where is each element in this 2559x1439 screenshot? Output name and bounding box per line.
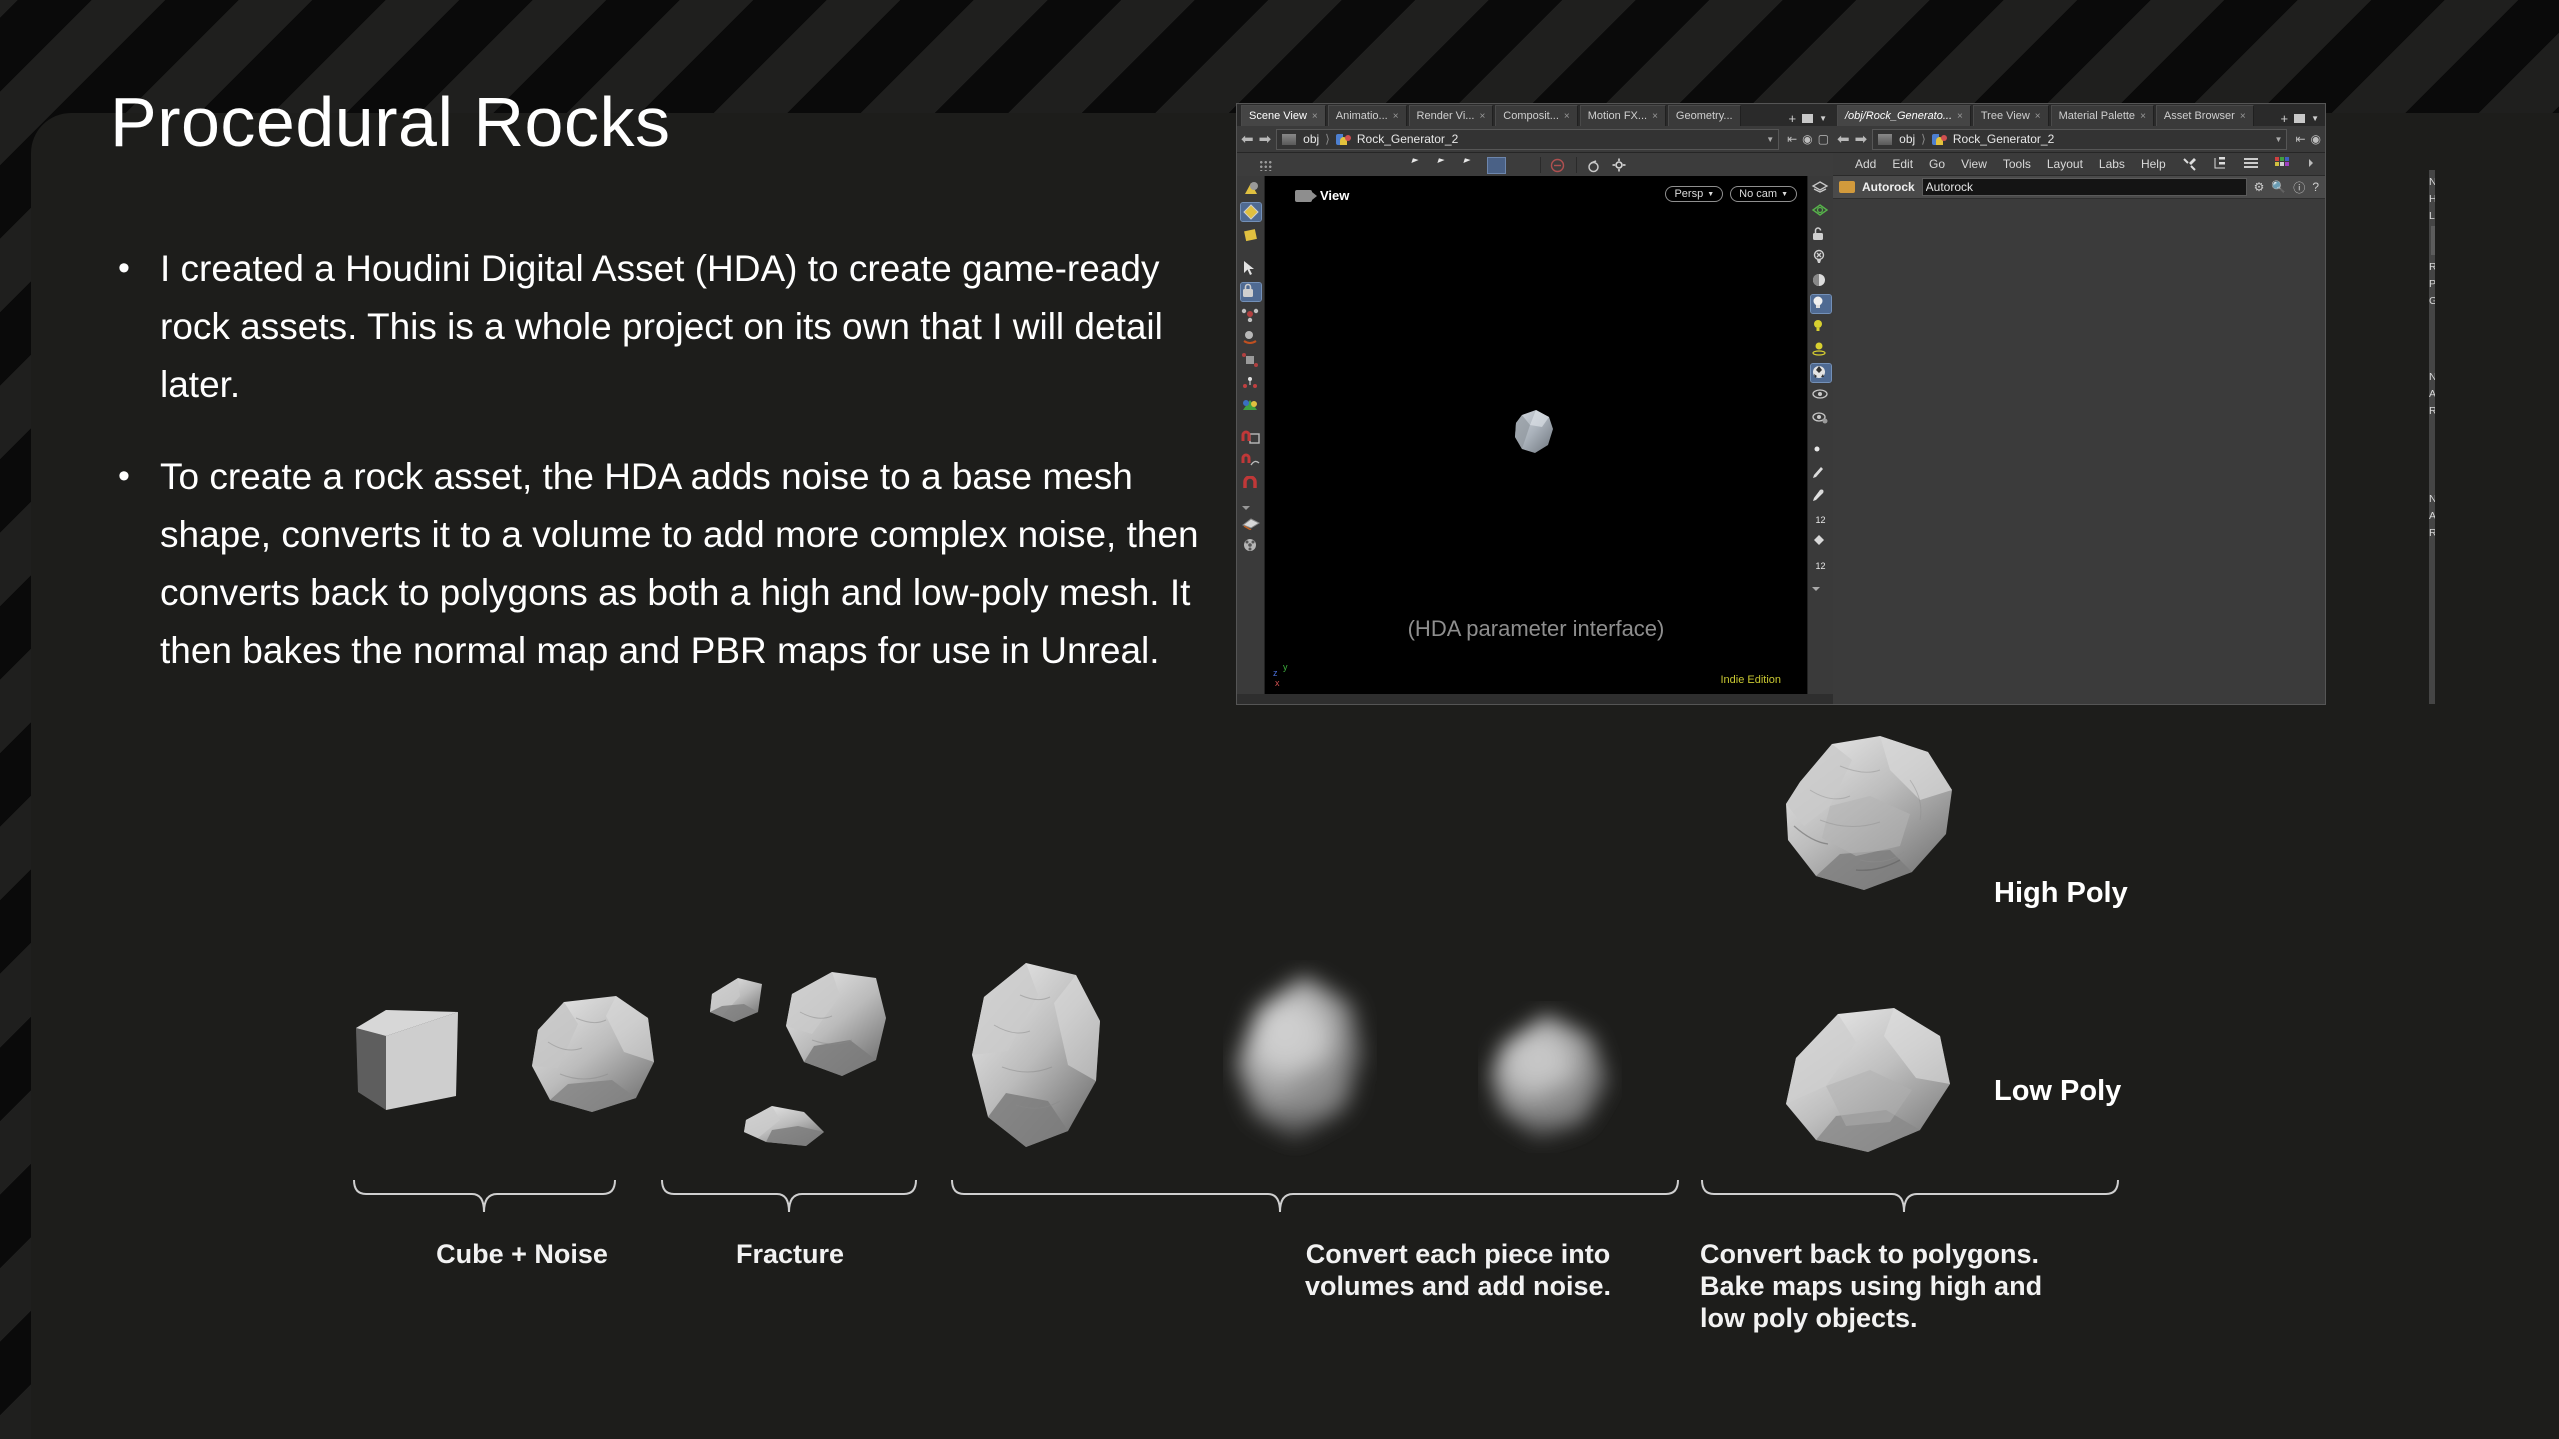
menu-labs[interactable]: Labs: [2099, 157, 2125, 171]
node-header-controls: ⚙ 🔍 ⓘ ?: [2254, 179, 2319, 196]
material-mode-icon[interactable]: [1241, 226, 1261, 244]
tree-list-icon[interactable]: [2213, 157, 2228, 171]
film-reel-icon[interactable]: [1241, 537, 1261, 555]
forward-arrow-icon[interactable]: ➡: [1855, 132, 1868, 147]
bullet-text: To create a rock asset, the HDA adds noi…: [160, 448, 1223, 680]
page-title: Procedural Rocks: [110, 82, 670, 162]
indie-edition-watermark: Indie Edition: [1720, 674, 1781, 686]
brush-icon[interactable]: [1811, 465, 1831, 483]
pathbar-controls: ⇤ ◉: [2292, 132, 2321, 146]
menu-layout[interactable]: Layout: [2047, 157, 2083, 171]
pathbar-controls: ⇤ ◉ ▢: [1784, 132, 1829, 146]
viewport-name: View: [1295, 188, 1349, 203]
close-icon[interactable]: ×: [1312, 111, 1318, 122]
high-poly-rock-mesh: [1760, 730, 1990, 910]
info-icon[interactable]: ⓘ: [2293, 179, 2305, 196]
stage-cube-mesh: [352, 1000, 462, 1120]
close-icon[interactable]: ×: [1957, 111, 1963, 122]
close-icon[interactable]: ×: [1564, 111, 1570, 122]
target-icon[interactable]: ◉: [1802, 132, 1812, 146]
tab-animation[interactable]: Animatio...×: [1328, 105, 1407, 126]
menu-view[interactable]: View: [1961, 157, 1987, 171]
path-node-label: Rock_Generator_2: [1953, 132, 2054, 146]
forward-arrow-icon[interactable]: ➡: [1259, 132, 1272, 147]
rotate-tool-icon[interactable]: [1241, 352, 1261, 370]
pin-icon[interactable]: ⇤: [2295, 132, 2305, 146]
parameters-tabstrip: /obj/Rock_Generato...× Tree View× Materi…: [1833, 104, 2325, 126]
viewport-left-toolbar: [1237, 176, 1265, 694]
tabstrip-controls: + ▼: [1782, 111, 1833, 126]
chevron-down-icon[interactable]: ▼: [1819, 114, 1827, 123]
frame-count-icon[interactable]: 12: [1811, 557, 1831, 575]
autorock-node-icon: [1839, 181, 1855, 193]
bullet-dot: •: [118, 448, 160, 680]
menu-edit[interactable]: Edit: [1892, 157, 1913, 171]
axis-tool-icon[interactable]: [1241, 398, 1261, 416]
menu-help[interactable]: Help: [2141, 157, 2166, 171]
chevron-down-icon[interactable]: [1811, 580, 1831, 590]
camera-dropdown[interactable]: No cam▼: [1730, 186, 1797, 202]
close-icon[interactable]: ×: [1652, 111, 1658, 122]
brace-fracture: [660, 1178, 918, 1218]
chevron-down-icon: ▼: [1781, 191, 1788, 198]
scene-viewport[interactable]: View Persp▼ No cam▼: [1265, 176, 1807, 694]
point-count-icon[interactable]: 12: [1811, 511, 1831, 529]
snap-to-grid-icon[interactable]: [1241, 430, 1261, 448]
snap-to-curve-icon[interactable]: [1241, 453, 1261, 471]
stage-piece-mesh: [950, 955, 1125, 1160]
chevron-down-icon[interactable]: ▼: [2275, 135, 2283, 144]
viewer-toolbar: [1237, 153, 1833, 178]
caption-convert-back: Convert back to polygons. Bake maps usin…: [1700, 1238, 2130, 1334]
stage-fracture-pieces: [700, 960, 930, 1170]
environment-ball-icon[interactable]: [1811, 364, 1831, 382]
geometry-node-icon: [1336, 133, 1351, 146]
parameters-menubar: Add Edit Go View Tools Layout Labs Help: [1833, 153, 2325, 176]
node-path-field[interactable]: obj ⟩ Rock_Generator_2 ▼: [1872, 129, 2287, 150]
houdini-screenshot: Scene View× Animatio...× Render Vi...× C…: [1236, 103, 2326, 705]
caption-fracture: Fracture: [665, 1238, 915, 1270]
parameter-list: Number of Rocks 1 High Poly Voxel Size 0…: [2429, 170, 2435, 704]
square-icon[interactable]: [1802, 114, 1813, 123]
light-yellow-icon[interactable]: [1811, 318, 1831, 336]
wrench-icon[interactable]: [2182, 157, 2197, 171]
square-icon[interactable]: [2294, 114, 2305, 123]
breadcrumb-separator: ⟩: [1921, 132, 1926, 146]
close-icon[interactable]: ×: [1393, 111, 1399, 122]
scale-tool-icon[interactable]: [1241, 375, 1261, 393]
parameters-pane: /obj/Rock_Generato...× Tree View× Materi…: [1833, 104, 2325, 704]
extra-icon[interactable]: ▢: [1818, 132, 1829, 146]
tab-motion-fx[interactable]: Motion FX...×: [1580, 105, 1666, 126]
display-layers-icon[interactable]: [1811, 180, 1831, 198]
chevron-right-icon[interactable]: [2306, 157, 2321, 171]
select-rotate-icon[interactable]: [1410, 158, 1427, 173]
obj-context-icon: [1281, 133, 1297, 146]
tab-compositor[interactable]: Composit...×: [1495, 105, 1577, 126]
chevron-down-icon[interactable]: ▼: [2311, 114, 2319, 123]
viewport-rock-mesh: [1500, 405, 1572, 465]
brace-convert-back: [1700, 1178, 2120, 1218]
low-poly-label: Low Poly: [1994, 1075, 2121, 1108]
close-icon[interactable]: ×: [2140, 111, 2146, 122]
viewport-area: View Persp▼ No cam▼: [1237, 176, 1833, 694]
object-mode-icon[interactable]: [1241, 180, 1261, 198]
select-plane-icon[interactable]: [1462, 158, 1479, 173]
tabstrip-controls: + ▼: [2274, 111, 2325, 126]
visibility-eye-icon[interactable]: [1811, 387, 1831, 405]
parameters-path-bar: ⬅ ➡ obj ⟩ Rock_Generator_2 ▼ ⇤ ◉: [1833, 126, 2325, 153]
menu-add[interactable]: Add: [1855, 157, 1876, 171]
scene-view-pane: Scene View× Animatio...× Render Vi...× C…: [1237, 104, 1834, 704]
ghost-display-icon[interactable]: [1811, 203, 1831, 221]
light-place-icon[interactable]: [1811, 341, 1831, 359]
handle-tool-icon[interactable]: [1241, 306, 1261, 324]
bullet-list: • I created a Houdini Digital Asset (HDA…: [118, 240, 1223, 714]
tab-asset-browser[interactable]: Asset Browser×: [2156, 105, 2254, 126]
geometry-mode-icon[interactable]: [1241, 203, 1261, 221]
snap-magnet-icon[interactable]: [1241, 476, 1261, 494]
group-select-icon[interactable]: [1488, 158, 1505, 173]
high-poly-label: High Poly: [1994, 877, 2128, 910]
back-arrow-icon[interactable]: ⬅: [1837, 132, 1850, 147]
scene-view-tabstrip: Scene View× Animatio...× Render Vi...× C…: [1237, 104, 1833, 126]
no-display-icon[interactable]: [1811, 249, 1831, 267]
snapping-icon[interactable]: [1586, 158, 1603, 173]
list-item: • I created a Houdini Digital Asset (HDA…: [118, 240, 1223, 414]
node-type-label: Autorock: [1862, 180, 1915, 194]
settings-gear-icon[interactable]: [1612, 158, 1629, 173]
list-item: • To create a rock asset, the HDA adds n…: [118, 448, 1223, 680]
slide-root: Procedural Rocks • I created a Houdini D…: [0, 0, 2559, 1439]
plus-icon[interactable]: +: [1788, 111, 1796, 126]
color-grid-icon[interactable]: [2275, 157, 2290, 171]
camera-icon: [1295, 190, 1312, 202]
select-arrow-icon[interactable]: [1436, 158, 1453, 173]
obj-context-icon: [1877, 133, 1893, 146]
pointer-tool-icon[interactable]: [1241, 260, 1261, 278]
chevron-down-icon: ▼: [1707, 191, 1714, 198]
menu-tools[interactable]: Tools: [2003, 157, 2031, 171]
path-root-label: obj: [1899, 132, 1915, 146]
menu-go[interactable]: Go: [1929, 157, 1945, 171]
eyedropper-icon[interactable]: [1811, 488, 1831, 506]
node-name-field[interactable]: [1922, 178, 2247, 196]
point-display-icon[interactable]: [1811, 442, 1831, 460]
node-header: Autorock ⚙ 🔍 ⓘ ?: [1833, 176, 2325, 199]
drag-handle-icon[interactable]: [1259, 160, 1272, 171]
tab-noise-options[interactable]: Noise Options: [2431, 226, 2435, 255]
close-icon[interactable]: ×: [2035, 111, 2041, 122]
stage-volume-blob-2: [1460, 990, 1650, 1170]
move-tool-icon[interactable]: [1241, 329, 1261, 347]
viewport-view-controls: Persp▼ No cam▼: [1665, 186, 1797, 202]
bullet-dot: •: [118, 240, 160, 414]
brace-cube-noise: [352, 1178, 617, 1218]
search-icon[interactable]: 🔍: [2271, 180, 2286, 194]
stage-noisy-cube-mesh: [520, 990, 670, 1120]
eye-settings-icon[interactable]: [1811, 410, 1831, 428]
path-node-label: Rock_Generator_2: [1357, 132, 1458, 146]
close-icon[interactable]: ×: [2240, 111, 2246, 122]
box-select-icon[interactable]: [1514, 158, 1531, 173]
geometry-node-icon: [1932, 133, 1947, 146]
chevron-down-icon[interactable]: [1241, 499, 1261, 509]
light-on-icon[interactable]: [1811, 295, 1831, 313]
bullet-text: I created a Houdini Digital Asset (HDA) …: [160, 240, 1223, 414]
caption-cube-noise: Cube + Noise: [402, 1238, 642, 1270]
help-icon[interactable]: ?: [2312, 180, 2319, 194]
close-icon[interactable]: ×: [1479, 111, 1485, 122]
shading-mode-icon[interactable]: [1811, 272, 1831, 290]
scene-path-bar: ⬅ ➡ obj ⟩ Rock_Generator_2 ▼ ⇤ ◉ ▢: [1237, 126, 1833, 153]
brace-volumes: [950, 1178, 1680, 1218]
path-root-label: obj: [1303, 132, 1319, 146]
node-path-field[interactable]: obj ⟩ Rock_Generator_2 ▼: [1276, 129, 1779, 150]
axis-gizmo: y z x: [1273, 662, 1299, 688]
gear-icon[interactable]: ⚙: [2254, 180, 2265, 194]
pin-icon[interactable]: ⇤: [1787, 132, 1797, 146]
projection-dropdown[interactable]: Persp▼: [1665, 186, 1723, 202]
paint-bucket-icon[interactable]: [1811, 534, 1831, 552]
back-arrow-icon[interactable]: ⬅: [1241, 132, 1254, 147]
breadcrumb-separator: ⟩: [1325, 132, 1330, 146]
chevron-down-icon[interactable]: ▼: [1766, 135, 1774, 144]
list-icon[interactable]: [2244, 157, 2259, 171]
lock-tool-icon[interactable]: [1241, 283, 1261, 301]
tab-node-parameters[interactable]: /obj/Rock_Generato...×: [1837, 105, 1971, 126]
unlock-icon[interactable]: [1811, 226, 1831, 244]
minus-circle-icon[interactable]: [1550, 158, 1567, 173]
caption-volumes: Convert each piece into volumes and add …: [1238, 1238, 1678, 1302]
low-poly-rock-mesh: [1760, 1000, 1975, 1165]
tab-tree-view[interactable]: Tree View×: [1973, 105, 2049, 126]
viewport-right-toolbar: 12 12: [1807, 176, 1833, 694]
tab-geometry[interactable]: Geometry...: [1668, 105, 1741, 126]
tab-material-palette[interactable]: Material Palette×: [2051, 105, 2154, 126]
tab-scene-view[interactable]: Scene View×: [1241, 105, 1326, 126]
tab-render-view[interactable]: Render Vi...×: [1409, 105, 1494, 126]
book-icon[interactable]: [1241, 514, 1261, 532]
hda-placeholder-caption: (HDA parameter interface): [1265, 616, 1807, 642]
stage-volume-blob-1: [1200, 960, 1410, 1170]
target-icon[interactable]: ◉: [2311, 132, 2321, 146]
plus-icon[interactable]: +: [2280, 111, 2288, 126]
